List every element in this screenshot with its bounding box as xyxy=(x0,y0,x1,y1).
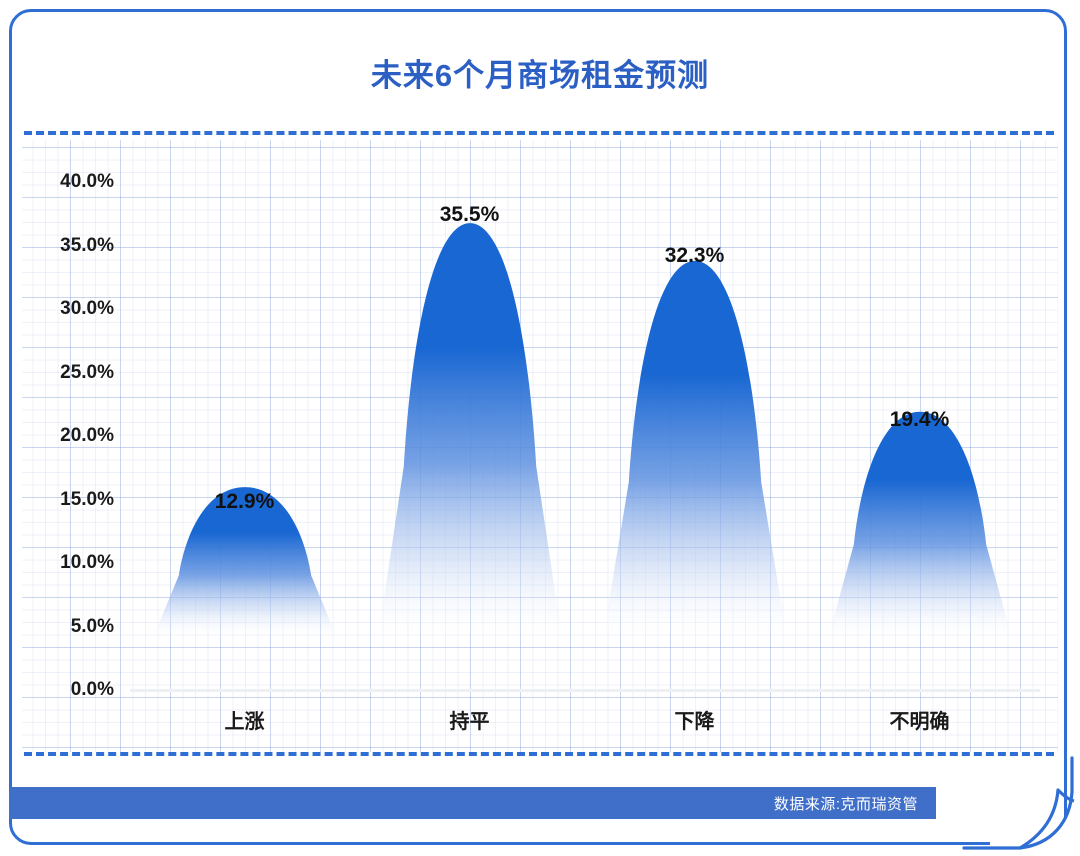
page-curl-icon xyxy=(960,752,1080,856)
x-axis-category-label: 下降 xyxy=(675,705,715,734)
y-axis-tick: 0.0% xyxy=(71,679,114,701)
x-axis-category-label: 持平 xyxy=(450,705,490,734)
chart-page: 未来6个月商场租金预测 0.0%5.0%10.0%15.0%20.0%25.0%… xyxy=(0,0,1080,856)
y-axis-tick: 30.0% xyxy=(60,298,114,320)
bar xyxy=(378,187,562,638)
bars-container: 12.9%上涨35.5%持平32.3%下降19.4%不明确 xyxy=(132,140,1032,700)
y-axis-tick: 10.0% xyxy=(60,552,114,574)
x-axis-category-label: 上涨 xyxy=(225,705,265,734)
y-axis-labels: 0.0%5.0%10.0%15.0%20.0%25.0%30.0%35.0%40… xyxy=(22,140,122,752)
source-bar: 数据来源:克而瑞资管 xyxy=(9,787,936,819)
y-axis-tick: 35.0% xyxy=(60,235,114,257)
divider-top xyxy=(24,131,1054,135)
x-axis-category-label: 不明确 xyxy=(890,705,950,734)
bar-value-label: 12.9% xyxy=(215,490,275,514)
y-axis-tick: 40.0% xyxy=(60,171,114,193)
source-label: 数据来源:克而瑞资管 xyxy=(774,793,936,814)
y-axis-tick: 5.0% xyxy=(71,616,114,638)
y-axis-tick: 25.0% xyxy=(60,362,114,384)
page-title: 未来6个月商场租金预测 xyxy=(0,50,1080,95)
y-axis-tick: 15.0% xyxy=(60,489,114,511)
divider-bottom xyxy=(24,752,1054,756)
bar-value-label: 19.4% xyxy=(890,408,950,432)
bar-value-label: 35.5% xyxy=(440,203,500,227)
bar-value-label: 32.3% xyxy=(665,244,725,268)
chart-plot-area: 0.0%5.0%10.0%15.0%20.0%25.0%30.0%35.0%40… xyxy=(22,140,1058,752)
bar xyxy=(603,228,787,638)
y-axis-tick: 20.0% xyxy=(60,425,114,447)
